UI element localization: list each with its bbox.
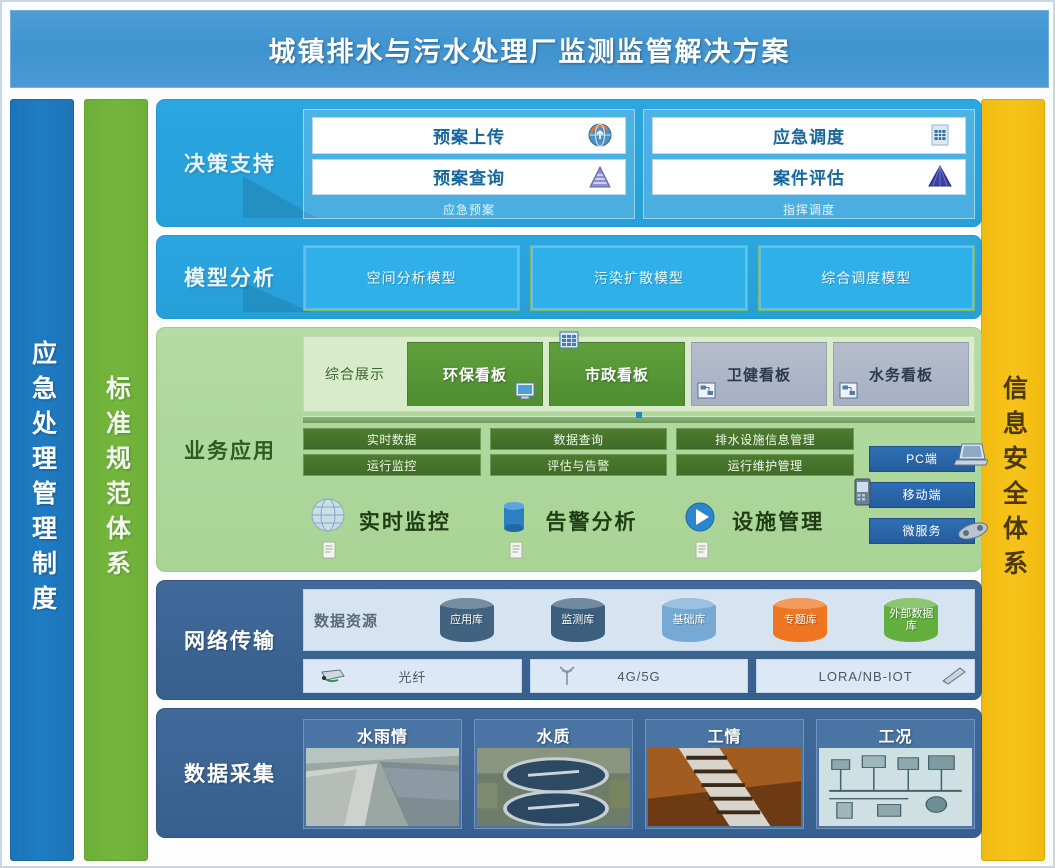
model-box-dispatch-label: 综合调度模型 — [821, 268, 911, 288]
flow-icon — [838, 381, 860, 401]
business-feature-facility-management-label: 设施管理 — [732, 506, 824, 536]
database-icon — [496, 496, 534, 538]
device-badge-pc-label: PC端 — [906, 450, 938, 467]
layer-network-transmission: 网络传输 数据资源 应用库 监测库 基础库 专题库 — [156, 580, 982, 700]
data-resource-row: 数据资源 应用库 监测库 基础库 专题库 外部数据库 — [303, 589, 975, 651]
model-box-pollution-label: 污染扩散模型 — [594, 268, 684, 288]
database-monitoring[interactable]: 监测库 — [551, 598, 605, 642]
pillar-standard-system: 标准规范体系 — [84, 99, 148, 861]
layer-network-label: 网络传输 — [157, 581, 303, 699]
data-card-operating-condition-label: 工况 — [819, 722, 972, 748]
pipeline-trench-photo — [648, 748, 801, 826]
globe-upload-icon — [587, 122, 613, 148]
device-badge-mobile[interactable]: 移动端 — [869, 482, 975, 508]
business-feature-alarm-analysis[interactable]: 告警分析 — [490, 480, 668, 561]
business-feature-facility-management[interactable]: 设施管理 — [676, 480, 854, 561]
dashboard-row: 综合展示 环保看板 市政看板 — [303, 336, 975, 412]
db-slot: 应用库 — [414, 598, 519, 642]
data-collection-card-list: 水雨情 水质 — [303, 719, 975, 829]
layer-business-label: 业务应用 — [157, 328, 303, 571]
page-title: 城镇排水与污水处理厂监测监管解决方案 — [269, 30, 791, 69]
separator-marker — [636, 412, 642, 418]
db-slot: 监测库 — [525, 598, 630, 642]
device-badge-pc[interactable]: PC端 — [869, 446, 975, 472]
document-icon — [694, 541, 710, 559]
document-icon — [508, 541, 524, 559]
model-box-spatial[interactable]: 空间分析模型 — [303, 245, 520, 311]
sensor-icon — [940, 666, 968, 686]
pillar-security-label: 信息安全体系 — [1001, 375, 1026, 585]
db-slot: 基础库 — [636, 598, 741, 642]
dashboard-card-municipal-label: 市政看板 — [585, 364, 649, 385]
monitor-icon — [514, 381, 536, 401]
data-card-project-status-label: 工情 — [648, 722, 801, 748]
antenna-icon — [553, 666, 581, 686]
database-application[interactable]: 应用库 — [440, 598, 494, 642]
network-link-cellular-label: 4G/5G — [617, 669, 660, 684]
dashboard-card-health-label: 卫健看板 — [727, 364, 791, 385]
database-foundation[interactable]: 基础库 — [662, 598, 716, 642]
pillar-emergency-management: 应急处理管理制度 — [10, 99, 74, 861]
data-card-rainfall-label: 水雨情 — [306, 722, 459, 748]
dashboard-card-water[interactable]: 水务看板 — [833, 342, 969, 406]
data-card-project-status[interactable]: 工情 — [645, 719, 804, 829]
business-btn-operation-monitor[interactable]: 运行监控 — [303, 454, 481, 476]
database-external-label: 外部数据库 — [884, 608, 938, 632]
business-feature-realtime-monitoring-label: 实时监控 — [359, 506, 451, 536]
decision-item-case-assessment-label: 案件评估 — [773, 164, 845, 189]
network-link-cellular[interactable]: 4G/5G — [530, 659, 749, 693]
data-resource-title: 数据资源 — [314, 610, 408, 631]
layer-decision-label: 决策支持 — [157, 100, 303, 226]
business-btn-assessment-alarm[interactable]: 评估与告警 — [490, 454, 668, 476]
dashboard-row-title: 综合展示 — [309, 342, 401, 406]
device-badge-list: PC端 移动端 — [863, 428, 975, 561]
db-slot: 专题库 — [748, 598, 853, 642]
layer-data-collection: 数据采集 水雨情 — [156, 708, 982, 838]
layer-business-application: 业务应用 综合展示 环保看板 — [156, 327, 982, 572]
decision-item-plan-upload-label: 预案上传 — [433, 123, 505, 148]
model-box-spatial-label: 空间分析模型 — [367, 268, 457, 288]
mobile-phone-icon — [850, 477, 876, 505]
business-column-alarm: 数据查询 评估与告警 — [490, 428, 668, 561]
database-external[interactable]: 外部数据库 — [884, 598, 938, 642]
decision-group-emergency-plan-caption: 应急预案 — [312, 200, 626, 218]
layer-decision-support: 决策支持 预案上传 — [156, 99, 982, 227]
business-btn-operation-maintenance[interactable]: 运行维护管理 — [676, 454, 854, 476]
decision-group-emergency-plan: 预案上传 预案查询 — [303, 109, 635, 219]
data-card-water-quality[interactable]: 水质 — [474, 719, 633, 829]
device-badge-microservice[interactable]: 微服务 — [869, 518, 975, 544]
dashboard-card-municipal[interactable]: 市政看板 — [549, 342, 685, 406]
pyramid-light-icon — [587, 164, 613, 190]
business-feature-alarm-analysis-label: 告警分析 — [546, 506, 638, 536]
business-btn-realtime-data[interactable]: 实时数据 — [303, 428, 481, 450]
business-btn-drainage-facility-info[interactable]: 排水设施信息管理 — [676, 428, 854, 450]
decision-item-emergency-dispatch-label: 应急调度 — [773, 123, 845, 148]
business-column-facility: 排水设施信息管理 运行维护管理 — [676, 428, 854, 561]
database-thematic-label: 专题库 — [784, 614, 817, 626]
layer-data-collection-label: 数据采集 — [157, 709, 303, 837]
business-inner: 综合展示 环保看板 市政看板 — [303, 336, 975, 565]
database-monitoring-label: 监测库 — [561, 614, 594, 626]
data-card-rainfall[interactable]: 水雨情 — [303, 719, 462, 829]
model-box-list: 空间分析模型 污染扩散模型 综合调度模型 — [303, 245, 975, 311]
business-columns: 实时数据 运行监控 — [303, 428, 975, 561]
decision-group-command-dispatch-caption: 指挥调度 — [652, 200, 966, 218]
model-box-pollution[interactable]: 污染扩散模型 — [530, 245, 747, 311]
dashboard-card-health[interactable]: 卫健看板 — [691, 342, 827, 406]
network-link-fiber[interactable]: 光纤 — [303, 659, 522, 693]
layer-model-label: 模型分析 — [157, 236, 303, 318]
decision-groups: 预案上传 预案查询 — [303, 109, 975, 219]
diagram-title-bar: 城镇排水与污水处理厂监测监管解决方案 — [10, 10, 1049, 88]
pyramid-dark-icon — [927, 164, 953, 190]
dashboard-card-environment-label: 环保看板 — [443, 364, 507, 385]
network-link-lora-label: LORA/NB-IOT — [819, 669, 913, 684]
layer-model-analysis: 模型分析 空间分析模型 污染扩散模型 综合调度模型 — [156, 235, 982, 319]
pillar-information-security: 信息安全体系 — [981, 99, 1045, 861]
fiber-cable-icon — [318, 666, 346, 686]
data-card-water-quality-label: 水质 — [477, 722, 630, 748]
treatment-tanks-photo — [477, 748, 630, 826]
device-badge-mobile-label: 移动端 — [903, 486, 942, 503]
network-link-list: 光纤 4G/5G LORA/NB-IOT — [303, 659, 975, 693]
model-box-dispatch[interactable]: 综合调度模型 — [758, 245, 975, 311]
diagram-canvas: 城镇排水与污水处理厂监测监管解决方案 应急处理管理制度 标准规范体系 信息安全体… — [0, 0, 1055, 868]
network-link-fiber-label: 光纤 — [398, 667, 426, 686]
decision-item-plan-query-label: 预案查询 — [433, 164, 505, 189]
db-slot: 外部数据库 — [859, 598, 964, 642]
database-application-label: 应用库 — [450, 614, 483, 626]
decision-group-command-dispatch: 应急调度 案件评估 — [643, 109, 975, 219]
globe-icon — [309, 496, 347, 538]
scada-schematic-photo — [819, 748, 972, 826]
play-circle-icon — [682, 496, 720, 538]
database-thematic[interactable]: 专题库 — [773, 598, 827, 642]
laptop-icon — [954, 441, 988, 469]
pillar-standard-label: 标准规范体系 — [104, 375, 129, 585]
decision-item-plan-query[interactable]: 预案查询 — [312, 159, 626, 196]
business-separator — [303, 416, 975, 423]
layer-stack: 决策支持 预案上传 — [156, 99, 982, 861]
business-column-monitoring: 实时数据 运行监控 — [303, 428, 481, 561]
pillar-emergency-label: 应急处理管理制度 — [30, 340, 55, 620]
decision-item-case-assessment[interactable]: 案件评估 — [652, 159, 966, 196]
decision-item-plan-upload[interactable]: 预案上传 — [312, 117, 626, 154]
dashboard-card-water-label: 水务看板 — [869, 364, 933, 385]
flow-icon — [696, 381, 718, 401]
window-icon — [558, 331, 580, 351]
dashboard-card-environment[interactable]: 环保看板 — [407, 342, 543, 406]
network-inner: 数据资源 应用库 监测库 基础库 专题库 外部数据库 — [303, 589, 975, 693]
database-foundation-label: 基础库 — [673, 614, 706, 626]
grid-table-icon — [927, 122, 953, 148]
document-icon — [321, 541, 337, 559]
business-feature-realtime-monitoring[interactable]: 实时监控 — [303, 480, 481, 561]
river-channel-photo — [306, 748, 459, 826]
device-icon — [956, 517, 990, 545]
device-badge-microservice-label: 微服务 — [903, 522, 942, 539]
data-card-operating-condition[interactable]: 工况 — [816, 719, 975, 829]
business-btn-data-query[interactable]: 数据查询 — [490, 428, 668, 450]
network-link-lora[interactable]: LORA/NB-IOT — [756, 659, 975, 693]
decision-item-emergency-dispatch[interactable]: 应急调度 — [652, 117, 966, 154]
